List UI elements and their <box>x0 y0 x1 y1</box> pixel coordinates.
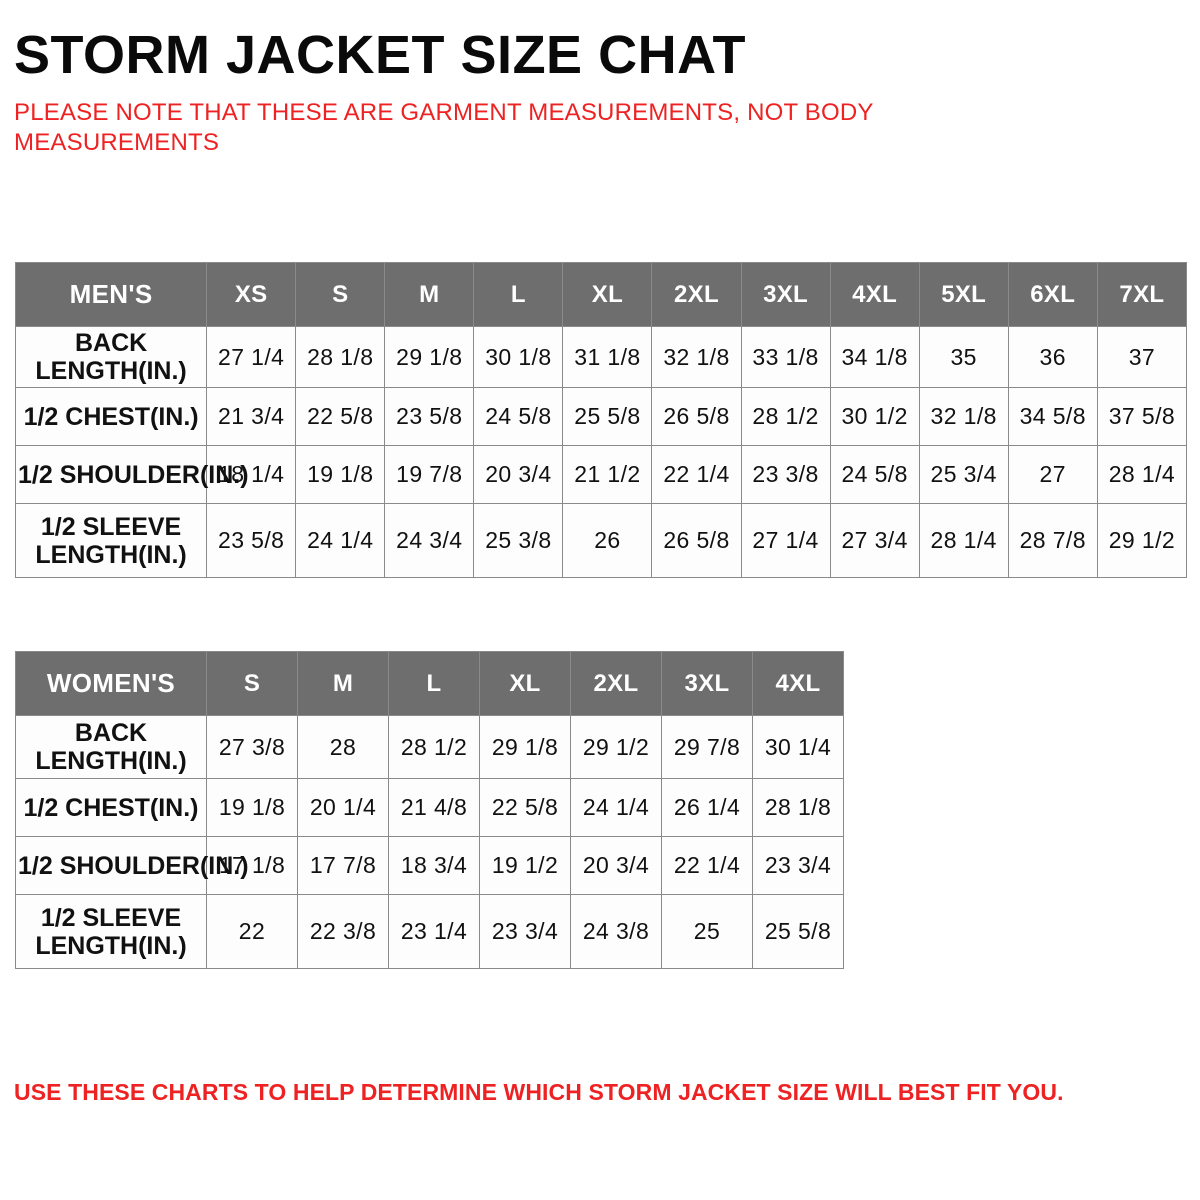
cell-value: 27 1/4 <box>741 504 830 578</box>
cell-value: 24 5/8 <box>474 388 563 446</box>
cell-value: 30 1/4 <box>753 716 844 779</box>
womens-col-xl: XL <box>480 652 571 716</box>
cell-value: 23 3/4 <box>753 837 844 895</box>
cell-value: 20 1/4 <box>298 779 389 837</box>
row-label-line: 1/2 SLEEVE <box>41 904 181 932</box>
cell-value: 34 1/8 <box>830 327 919 388</box>
cell-value: 37 5/8 <box>1097 388 1186 446</box>
cell-value: 27 1/4 <box>207 327 296 388</box>
cell-value: 28 7/8 <box>1008 504 1097 578</box>
row-label-line: 1/2 SLEEVE <box>41 513 181 541</box>
cell-value: 25 5/8 <box>753 895 844 969</box>
cell-value: 26 5/8 <box>652 504 741 578</box>
mens-size-table: MEN'S XS S M L XL 2XL 3XL 4XL 5XL 6XL 7X… <box>15 262 1187 578</box>
cell-value: 17 7/8 <box>298 837 389 895</box>
cell-value: 21 3/4 <box>207 388 296 446</box>
cell-value: 24 3/8 <box>571 895 662 969</box>
cell-value: 29 1/8 <box>385 327 474 388</box>
cell-value: 28 1/4 <box>1097 446 1186 504</box>
cell-value: 25 <box>662 895 753 969</box>
cell-value: 18 1/4 <box>207 446 296 504</box>
cell-value: 18 3/4 <box>389 837 480 895</box>
cell-value: 21 4/8 <box>389 779 480 837</box>
cell-value: 24 1/4 <box>296 504 385 578</box>
cell-value: 29 1/2 <box>1097 504 1186 578</box>
mens-col-m: M <box>385 263 474 327</box>
mens-table-body: BACK LENGTH(IN.) 27 1/4 28 1/8 29 1/8 30… <box>16 327 1187 578</box>
mens-row-label-half-chest: 1/2 CHEST(IN.) <box>16 388 207 446</box>
womens-col-3xl: 3XL <box>662 652 753 716</box>
cell-value: 32 1/8 <box>919 388 1008 446</box>
cell-value: 33 1/8 <box>741 327 830 388</box>
cell-value: 27 3/4 <box>830 504 919 578</box>
cell-value: 24 3/4 <box>385 504 474 578</box>
cell-value: 32 1/8 <box>652 327 741 388</box>
cell-value: 19 1/8 <box>207 779 298 837</box>
mens-row-label-half-sleeve-length: 1/2 SLEEVE LENGTH(IN.) <box>16 504 207 578</box>
mens-col-4xl: 4XL <box>830 263 919 327</box>
cell-value: 17 1/8 <box>207 837 298 895</box>
table-row: BACK LENGTH(IN.) 27 3/8 28 28 1/2 29 1/8… <box>16 716 844 779</box>
cell-value: 23 5/8 <box>207 504 296 578</box>
womens-col-s: S <box>207 652 298 716</box>
row-label-line: LENGTH(IN.) <box>35 357 186 385</box>
fit-guidance-note: USE THESE CHARTS TO HELP DETERMINE WHICH… <box>14 1078 1064 1106</box>
womens-row-label-half-sleeve-length: 1/2 SLEEVE LENGTH(IN.) <box>16 895 207 969</box>
mens-col-xs: XS <box>207 263 296 327</box>
mens-row-label-back-length: BACK LENGTH(IN.) <box>16 327 207 388</box>
mens-corner-label: MEN'S <box>16 263 207 327</box>
row-label-line: LENGTH(IN.) <box>35 541 186 569</box>
cell-value: 28 1/2 <box>389 716 480 779</box>
cell-value: 20 3/4 <box>474 446 563 504</box>
cell-value: 23 3/8 <box>741 446 830 504</box>
mens-col-7xl: 7XL <box>1097 263 1186 327</box>
cell-value: 26 5/8 <box>652 388 741 446</box>
cell-value: 22 5/8 <box>296 388 385 446</box>
cell-value: 23 3/4 <box>480 895 571 969</box>
mens-col-xl: XL <box>563 263 652 327</box>
cell-value: 26 <box>563 504 652 578</box>
womens-table-head: WOMEN'S S M L XL 2XL 3XL 4XL <box>16 652 844 716</box>
womens-col-2xl: 2XL <box>571 652 662 716</box>
table-row: 1/2 CHEST(IN.) 19 1/8 20 1/4 21 4/8 22 5… <box>16 779 844 837</box>
cell-value: 28 1/4 <box>919 504 1008 578</box>
row-label-line: LENGTH(IN.) <box>35 747 186 775</box>
womens-row-label-half-chest: 1/2 CHEST(IN.) <box>16 779 207 837</box>
womens-size-table: WOMEN'S S M L XL 2XL 3XL 4XL BACK LENGTH… <box>15 651 844 969</box>
table-row: 1/2 SLEEVE LENGTH(IN.) 23 5/8 24 1/4 24 … <box>16 504 1187 578</box>
row-label-line: BACK <box>75 719 147 747</box>
size-chart-page: STORM JACKET SIZE CHAT PLEASE NOTE THAT … <box>0 0 1200 1200</box>
row-label-line: 1/2 CHEST(IN.) <box>23 794 198 822</box>
cell-value: 19 7/8 <box>385 446 474 504</box>
cell-value: 29 7/8 <box>662 716 753 779</box>
cell-value: 37 <box>1097 327 1186 388</box>
page-title: STORM JACKET SIZE CHAT <box>14 0 1186 84</box>
table-row: 1/2 SHOULDER(IN.) 18 1/4 19 1/8 19 7/8 2… <box>16 446 1187 504</box>
cell-value: 20 3/4 <box>571 837 662 895</box>
cell-value: 26 1/4 <box>662 779 753 837</box>
cell-value: 28 <box>298 716 389 779</box>
table-row: 1/2 SLEEVE LENGTH(IN.) 22 22 3/8 23 1/4 … <box>16 895 844 969</box>
mens-col-l: L <box>474 263 563 327</box>
garment-measurement-note: PLEASE NOTE THAT THESE ARE GARMENT MEASU… <box>14 98 974 158</box>
cell-value: 22 1/4 <box>662 837 753 895</box>
cell-value: 34 5/8 <box>1008 388 1097 446</box>
womens-row-label-back-length: BACK LENGTH(IN.) <box>16 716 207 779</box>
cell-value: 22 1/4 <box>652 446 741 504</box>
cell-value: 27 <box>1008 446 1097 504</box>
mens-col-s: S <box>296 263 385 327</box>
mens-table-head: MEN'S XS S M L XL 2XL 3XL 4XL 5XL 6XL 7X… <box>16 263 1187 327</box>
cell-value: 28 1/8 <box>296 327 385 388</box>
table-row: 1/2 CHEST(IN.) 21 3/4 22 5/8 23 5/8 24 5… <box>16 388 1187 446</box>
cell-value: 21 1/2 <box>563 446 652 504</box>
cell-value: 25 5/8 <box>563 388 652 446</box>
row-label-line: 1/2 CHEST(IN.) <box>24 403 199 431</box>
cell-value: 28 1/8 <box>753 779 844 837</box>
row-label-line: BACK <box>75 329 147 357</box>
mens-header-row: MEN'S XS S M L XL 2XL 3XL 4XL 5XL 6XL 7X… <box>16 263 1187 327</box>
womens-corner-label: WOMEN'S <box>16 652 207 716</box>
row-label-line: 1/2 SHOULDER(IN.) <box>18 461 249 489</box>
cell-value: 35 <box>919 327 1008 388</box>
womens-row-label-half-shoulder: 1/2 SHOULDER(IN.) <box>16 837 207 895</box>
mens-col-6xl: 6XL <box>1008 263 1097 327</box>
cell-value: 24 5/8 <box>830 446 919 504</box>
table-row: BACK LENGTH(IN.) 27 1/4 28 1/8 29 1/8 30… <box>16 327 1187 388</box>
cell-value: 19 1/2 <box>480 837 571 895</box>
womens-col-l: L <box>389 652 480 716</box>
cell-value: 19 1/8 <box>296 446 385 504</box>
mens-col-5xl: 5XL <box>919 263 1008 327</box>
cell-value: 22 <box>207 895 298 969</box>
cell-value: 24 1/4 <box>571 779 662 837</box>
row-label-line: 1/2 SHOULDER(IN.) <box>18 852 249 880</box>
womens-header-row: WOMEN'S S M L XL 2XL 3XL 4XL <box>16 652 844 716</box>
cell-value: 23 1/4 <box>389 895 480 969</box>
cell-value: 27 3/8 <box>207 716 298 779</box>
cell-value: 28 1/2 <box>741 388 830 446</box>
womens-col-m: M <box>298 652 389 716</box>
table-row: 1/2 SHOULDER(IN.) 17 1/8 17 7/8 18 3/4 1… <box>16 837 844 895</box>
cell-value: 36 <box>1008 327 1097 388</box>
cell-value: 25 3/8 <box>474 504 563 578</box>
mens-row-label-half-shoulder: 1/2 SHOULDER(IN.) <box>16 446 207 504</box>
mens-col-3xl: 3XL <box>741 263 830 327</box>
womens-table-body: BACK LENGTH(IN.) 27 3/8 28 28 1/2 29 1/8… <box>16 716 844 969</box>
cell-value: 30 1/2 <box>830 388 919 446</box>
cell-value: 23 5/8 <box>385 388 474 446</box>
cell-value: 29 1/8 <box>480 716 571 779</box>
womens-col-4xl: 4XL <box>753 652 844 716</box>
row-label-line: LENGTH(IN.) <box>35 932 186 960</box>
cell-value: 25 3/4 <box>919 446 1008 504</box>
cell-value: 29 1/2 <box>571 716 662 779</box>
mens-col-2xl: 2XL <box>652 263 741 327</box>
cell-value: 22 3/8 <box>298 895 389 969</box>
cell-value: 31 1/8 <box>563 327 652 388</box>
cell-value: 30 1/8 <box>474 327 563 388</box>
cell-value: 22 5/8 <box>480 779 571 837</box>
